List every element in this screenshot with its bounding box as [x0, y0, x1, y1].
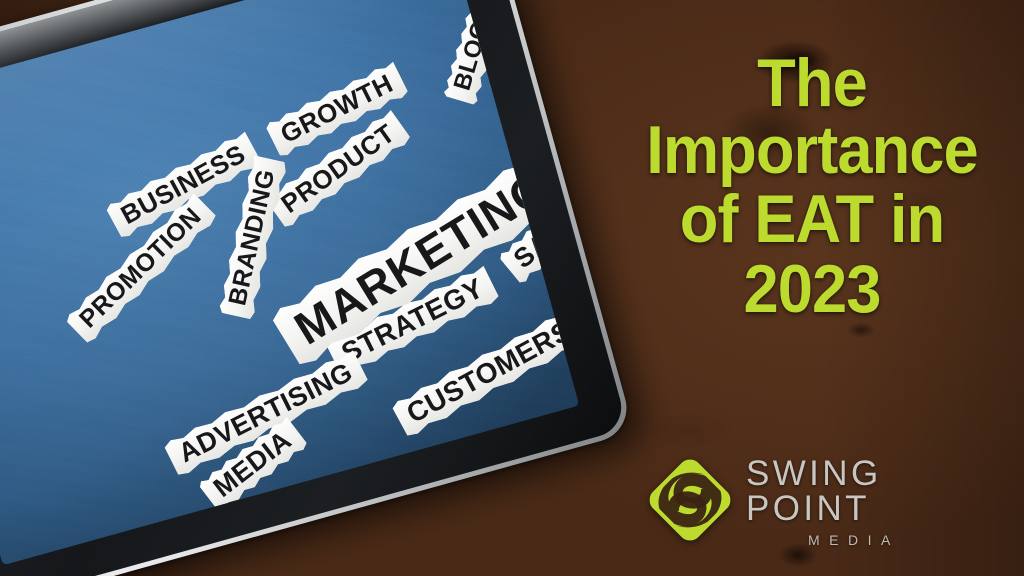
swing-point-s-mark-icon	[648, 458, 732, 542]
logo-wordmark: SWING POINT MEDIA	[746, 454, 978, 547]
page-title: The Importance of EAT in 2023	[600, 52, 1024, 321]
featured-image-canvas: BUSINESSGROWTHBLOGPROMOTIONBRANDINGPRODU…	[0, 0, 1024, 576]
title-line-1: The	[615, 52, 1009, 115]
title-line-2: Importance	[615, 119, 1009, 182]
title-line-3: of EAT in	[615, 188, 1009, 251]
logo-subtitle-text: MEDIA	[808, 533, 978, 547]
title-line-4: 2023	[615, 258, 1009, 321]
brand-logo: SWING POINT MEDIA	[648, 450, 978, 550]
logo-name-text: SWING POINT	[746, 456, 978, 526]
